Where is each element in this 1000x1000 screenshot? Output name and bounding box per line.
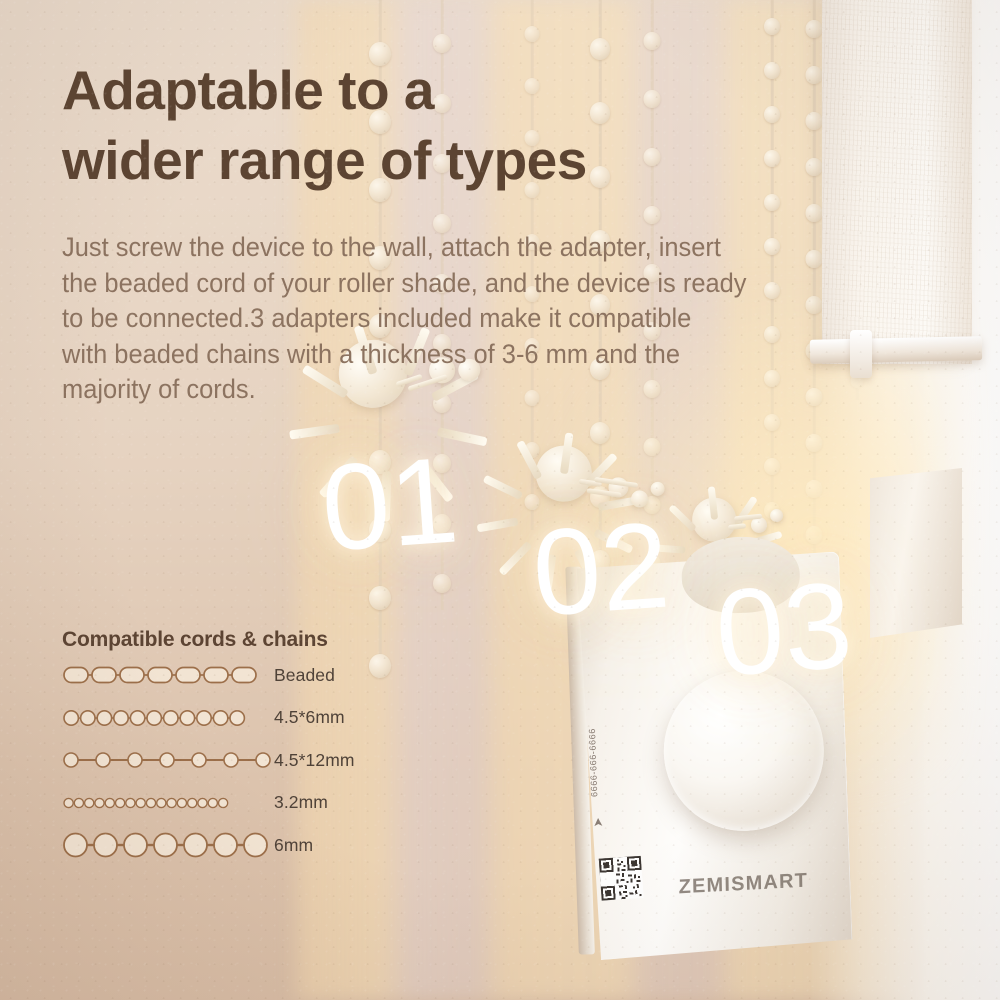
chain-bead	[764, 106, 780, 123]
compatible-cord-label: Beaded	[274, 665, 335, 686]
compatible-cord-row: 4.5*6mm	[62, 699, 422, 738]
beaded-oval-chain-icon	[62, 662, 274, 688]
compatible-cord-row: 4.5*12mm	[62, 741, 422, 780]
chain-bead	[525, 26, 540, 42]
body-line-5: majority of cords.	[62, 372, 890, 408]
large-bead-chain-icon	[62, 832, 274, 858]
chain-bead	[644, 206, 661, 224]
description-paragraph: Just screw the device to the wall, attac…	[62, 230, 890, 408]
compatible-cord-row: 6mm	[62, 826, 422, 865]
compatible-cord-label: 4.5*6mm	[274, 707, 345, 728]
compatible-cord-row: Beaded	[62, 656, 422, 695]
chain-bead	[764, 150, 780, 167]
qr-code	[599, 856, 644, 901]
step-number-01: 01	[318, 438, 462, 569]
body-line-2: the beaded cord of your roller shade, an…	[62, 266, 890, 302]
headline-line-2: wider range of types	[62, 125, 762, 195]
round-bead-chain-icon	[62, 705, 274, 731]
body-line-4: with beaded chains with a thickness of 3…	[62, 337, 890, 373]
chain-bead	[433, 34, 451, 53]
compatible-cords-title: Compatible cords & chains	[62, 628, 422, 652]
compatible-cords-section: Compatible cords & chains Beaded4.5*6mm4…	[62, 628, 422, 865]
chain-bead	[644, 32, 661, 50]
body-line-3: to be connected.3 adapters included make…	[62, 301, 890, 337]
chain-bead	[764, 18, 780, 35]
chain-bead	[369, 586, 391, 610]
chain-bead	[433, 574, 451, 593]
body-line-1: Just screw the device to the wall, attac…	[62, 230, 890, 266]
chain-bead	[764, 194, 780, 211]
step-number-03: 03	[712, 563, 856, 694]
wall-panel	[870, 468, 962, 638]
step-number-02: 02	[529, 503, 673, 634]
brand-mark-icon	[592, 816, 604, 828]
fine-bead-chain-icon	[62, 790, 274, 816]
page-title: Adaptable to a wider range of types	[62, 55, 762, 196]
compatible-cord-label: 6mm	[274, 835, 313, 856]
compatible-cord-row: 3.2mm	[62, 784, 422, 823]
compatible-cord-label: 4.5*12mm	[274, 750, 355, 771]
compatible-cord-label: 3.2mm	[274, 792, 328, 813]
product-marketing-image: 6666-666-6666	[0, 0, 1000, 1000]
chain-bead	[764, 62, 780, 79]
headline-line-1: Adaptable to a	[62, 55, 762, 125]
spaced-bead-chain-icon	[62, 747, 274, 773]
